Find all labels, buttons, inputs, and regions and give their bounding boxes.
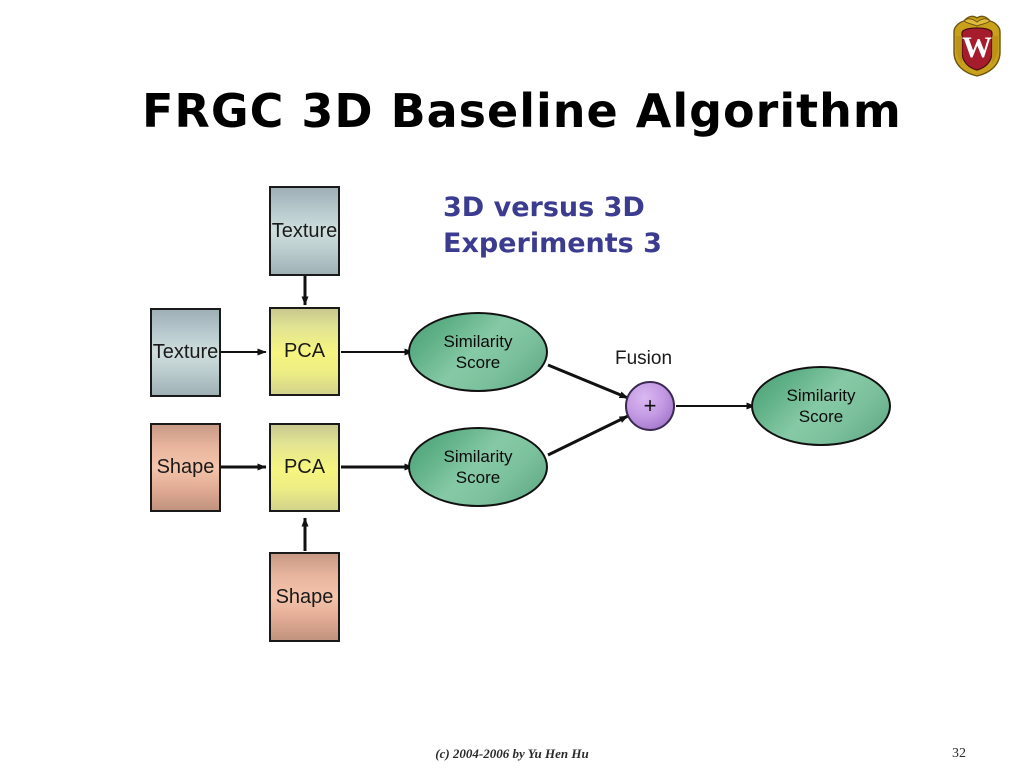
node-texture-top[interactable]: Texture <box>269 186 340 276</box>
uw-madison-crest-logo: W <box>946 12 1008 78</box>
node-texture-left[interactable]: Texture <box>150 308 221 397</box>
node-fusion[interactable]: + <box>625 381 675 431</box>
fusion-label: Fusion <box>615 348 672 370</box>
node-texture-top-label: Texture <box>272 220 338 243</box>
node-similarity-score-final[interactable]: Similarity Score <box>751 366 891 446</box>
node-shape-left-label: Shape <box>157 456 215 479</box>
page-title: FRGC 3D Baseline Algorithm <box>142 84 902 138</box>
node-pca-top-label: PCA <box>284 340 325 363</box>
footer-credit: (c) 2004-2006 by Yu Hen Hu <box>0 746 1024 762</box>
experiment-subtitle: 3D versus 3D Experiments 3 <box>443 190 662 262</box>
node-similarity-score-bottom-label: Similarity Score <box>444 446 513 488</box>
page-number: 32 <box>952 746 992 762</box>
node-texture-left-label: Texture <box>153 341 219 364</box>
node-pca-bottom-label: PCA <box>284 456 325 479</box>
node-similarity-score-bottom[interactable]: Similarity Score <box>408 427 548 507</box>
svg-text:W: W <box>962 31 992 64</box>
node-pca-top[interactable]: PCA <box>269 307 340 396</box>
edge-score-bottom-to-fusion <box>548 416 628 455</box>
node-shape-left[interactable]: Shape <box>150 423 221 512</box>
node-similarity-score-top-label: Similarity Score <box>444 331 513 373</box>
node-shape-bottom[interactable]: Shape <box>269 552 340 642</box>
crest-icon: W <box>946 12 1008 78</box>
node-pca-bottom[interactable]: PCA <box>269 423 340 512</box>
node-shape-bottom-label: Shape <box>276 586 334 609</box>
node-similarity-score-final-label: Similarity Score <box>787 385 856 427</box>
node-similarity-score-top[interactable]: Similarity Score <box>408 312 548 392</box>
node-fusion-label: + <box>644 393 657 419</box>
slide-canvas: W FRGC 3D Baseline Algorithm 3D versus 3… <box>0 0 1024 768</box>
